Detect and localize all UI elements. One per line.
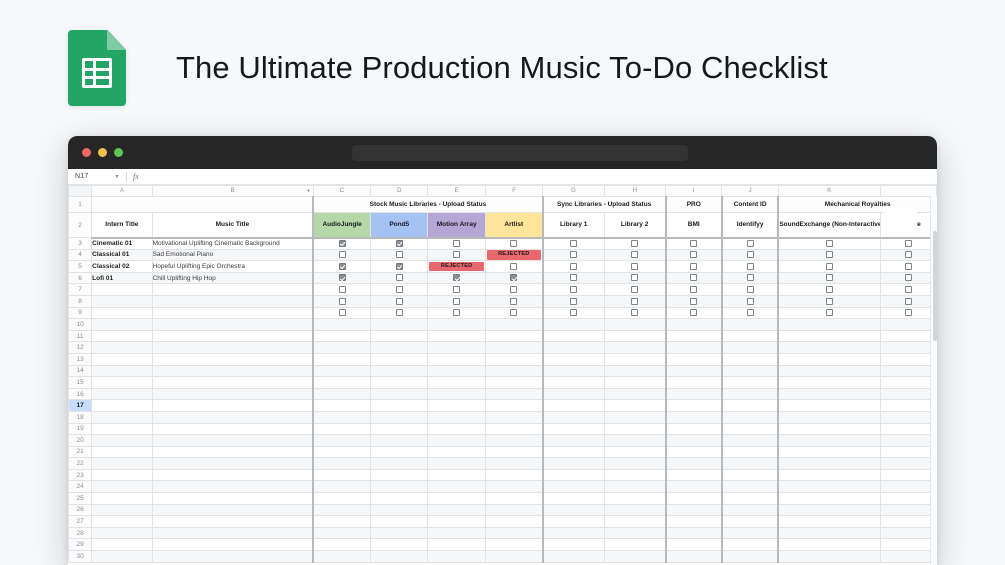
cell-empty[interactable] (722, 493, 778, 505)
cell-empty[interactable] (371, 539, 428, 551)
cell-empty[interactable] (604, 353, 665, 365)
cell-empty[interactable] (92, 516, 152, 528)
cell-empty[interactable] (92, 319, 152, 331)
cell-empty[interactable] (543, 469, 604, 481)
cell-empty[interactable] (92, 493, 152, 505)
minimize-window-button[interactable] (98, 148, 107, 157)
cell-empty[interactable] (371, 365, 428, 377)
checkbox[interactable] (339, 286, 346, 293)
cell-intern-title[interactable]: Lofi 01 (92, 272, 152, 284)
cell-empty[interactable] (666, 539, 722, 551)
cell-empty[interactable] (880, 446, 936, 458)
cell-empty[interactable] (313, 493, 370, 505)
checkbox[interactable] (905, 263, 912, 270)
cell-status[interactable] (371, 238, 428, 250)
cell-empty[interactable] (485, 527, 542, 539)
cell-empty[interactable] (485, 504, 542, 516)
cell-empty[interactable] (666, 481, 722, 493)
cell-empty[interactable] (666, 551, 722, 563)
cell-intern-title[interactable] (92, 284, 152, 296)
checkbox[interactable] (396, 263, 403, 270)
cell-empty[interactable] (428, 365, 485, 377)
cell-empty[interactable] (722, 539, 778, 551)
row-number[interactable]: 17 (69, 400, 92, 412)
cell-empty[interactable] (778, 493, 880, 505)
cell-empty[interactable] (371, 377, 428, 389)
cell-status[interactable] (428, 249, 485, 261)
checkbox[interactable] (747, 263, 754, 270)
checkbox[interactable] (826, 298, 833, 305)
cell-status[interactable] (371, 261, 428, 273)
cell-empty[interactable] (152, 423, 313, 435)
checkbox[interactable] (631, 274, 638, 281)
cell-status[interactable] (778, 272, 880, 284)
cell-status[interactable] (722, 249, 778, 261)
spreadsheet-grid[interactable]: AB▾CDEFGHIJK1Stock Music Libraries - Upl… (68, 185, 937, 565)
checkbox[interactable] (453, 309, 460, 316)
cell-empty[interactable] (485, 539, 542, 551)
cell-status[interactable] (604, 238, 665, 250)
checkbox[interactable] (631, 286, 638, 293)
cell-empty[interactable] (880, 342, 936, 354)
cell-status[interactable] (722, 238, 778, 250)
table-row[interactable]: 14 (69, 365, 937, 377)
cell-status[interactable] (485, 261, 542, 273)
cell-empty[interactable] (371, 504, 428, 516)
cell-empty[interactable] (543, 493, 604, 505)
checkbox[interactable] (570, 286, 577, 293)
cell-empty[interactable] (485, 493, 542, 505)
checkbox[interactable] (747, 298, 754, 305)
cell-empty[interactable] (92, 527, 152, 539)
cell-empty[interactable] (92, 446, 152, 458)
cell-empty[interactable] (722, 365, 778, 377)
cell-empty[interactable] (428, 388, 485, 400)
row-number[interactable]: 18 (69, 411, 92, 423)
cell-empty[interactable] (313, 377, 370, 389)
table-row[interactable]: 12 (69, 342, 937, 354)
cell-empty[interactable] (371, 469, 428, 481)
cell-empty[interactable] (152, 377, 313, 389)
cell-empty[interactable] (778, 516, 880, 528)
cell-intern-title[interactable] (92, 295, 152, 307)
row-number[interactable]: 22 (69, 458, 92, 470)
cell-music-title[interactable]: Hopeful Uplifting Epic Orchestra (152, 261, 313, 273)
table-row[interactable]: 13 (69, 353, 937, 365)
cell-empty[interactable] (428, 527, 485, 539)
checkbox[interactable] (631, 263, 638, 270)
cell-empty[interactable] (543, 527, 604, 539)
table-row[interactable]: 21 (69, 446, 937, 458)
row-number[interactable]: 1 (69, 197, 92, 213)
checkbox[interactable] (510, 240, 517, 247)
cell-empty[interactable] (152, 527, 313, 539)
cell-empty[interactable] (543, 330, 604, 342)
cell-empty[interactable] (428, 400, 485, 412)
cell-empty[interactable] (543, 458, 604, 470)
row-number[interactable]: 29 (69, 539, 92, 551)
table-row[interactable]: 24 (69, 481, 937, 493)
cell-intern-title[interactable]: Cinematic 01 (92, 238, 152, 250)
cell-status[interactable] (880, 249, 936, 261)
cell-empty[interactable] (604, 446, 665, 458)
cell-empty[interactable] (604, 481, 665, 493)
cell-empty[interactable] (152, 493, 313, 505)
cell-empty[interactable] (604, 504, 665, 516)
cell-status[interactable] (778, 284, 880, 296)
cell-status[interactable] (543, 261, 604, 273)
cell-empty[interactable] (604, 435, 665, 447)
cell-empty[interactable] (778, 330, 880, 342)
cell-empty[interactable] (722, 551, 778, 563)
row-number[interactable]: 11 (69, 330, 92, 342)
table-row[interactable]: 25 (69, 493, 937, 505)
checkbox[interactable] (570, 263, 577, 270)
cell-empty[interactable] (313, 330, 370, 342)
cell-empty[interactable] (666, 330, 722, 342)
cell-empty[interactable] (543, 377, 604, 389)
cell-empty[interactable] (880, 504, 936, 516)
cell-empty[interactable] (485, 458, 542, 470)
cell-empty[interactable] (778, 458, 880, 470)
cell-empty[interactable] (880, 411, 936, 423)
cell-empty[interactable] (722, 400, 778, 412)
cell-empty[interactable] (722, 377, 778, 389)
table-row[interactable]: 18 (69, 411, 937, 423)
table-row[interactable]: 4Classical 01Sad Emotional PianoREJECTED (69, 249, 937, 261)
checkbox[interactable] (510, 298, 517, 305)
checkbox[interactable] (747, 274, 754, 281)
checkbox[interactable] (453, 274, 460, 281)
cell-empty[interactable] (152, 388, 313, 400)
cell-empty[interactable] (313, 423, 370, 435)
row-number[interactable]: 4 (69, 249, 92, 261)
cell-status[interactable] (543, 307, 604, 319)
cell-empty[interactable] (543, 481, 604, 493)
row-number[interactable]: 30 (69, 551, 92, 563)
row-number[interactable]: 3 (69, 238, 92, 250)
checkbox[interactable] (570, 251, 577, 258)
checkbox[interactable] (690, 309, 697, 316)
checkbox[interactable] (510, 309, 517, 316)
column-header-e[interactable]: E (428, 186, 485, 197)
checkbox[interactable] (570, 309, 577, 316)
cell-empty[interactable] (92, 377, 152, 389)
table-row[interactable]: 11 (69, 330, 937, 342)
cell-empty[interactable] (313, 435, 370, 447)
cell-empty[interactable] (371, 423, 428, 435)
cell-status[interactable] (313, 261, 370, 273)
table-row[interactable]: 28 (69, 527, 937, 539)
table-row[interactable]: 8 (69, 295, 937, 307)
cell-empty[interactable] (880, 423, 936, 435)
row-number[interactable]: 12 (69, 342, 92, 354)
cell-empty[interactable] (371, 342, 428, 354)
checkbox[interactable] (339, 240, 346, 247)
cell-empty[interactable] (880, 469, 936, 481)
cell-empty[interactable] (778, 551, 880, 563)
cell-empty[interactable] (722, 411, 778, 423)
row-number[interactable]: 15 (69, 377, 92, 389)
cell-status[interactable]: REJECTED (485, 249, 542, 261)
cell-music-title[interactable]: Chill Uplifting Hip Hop (152, 272, 313, 284)
cell-empty[interactable] (485, 481, 542, 493)
cell-empty[interactable] (428, 551, 485, 563)
cell-empty[interactable] (604, 342, 665, 354)
cell-status[interactable] (371, 249, 428, 261)
cell-empty[interactable] (428, 516, 485, 528)
cell-empty[interactable] (313, 504, 370, 516)
cell-empty[interactable] (543, 446, 604, 458)
cell-status[interactable] (428, 238, 485, 250)
cell-empty[interactable] (604, 493, 665, 505)
name-box[interactable]: N17 (68, 173, 110, 180)
cell-status[interactable] (880, 238, 936, 250)
cell-empty[interactable] (880, 493, 936, 505)
cell-empty[interactable] (485, 411, 542, 423)
checkbox[interactable] (905, 240, 912, 247)
table-row[interactable]: 17 (69, 400, 937, 412)
cell-empty[interactable] (313, 539, 370, 551)
cell-status[interactable] (778, 295, 880, 307)
column-header-j[interactable]: J (722, 186, 778, 197)
close-window-button[interactable] (82, 148, 91, 157)
cell-empty[interactable] (485, 423, 542, 435)
cell-empty[interactable] (778, 400, 880, 412)
table-row[interactable]: 3Cinematic 01Motivational Uplifting Cine… (69, 238, 937, 250)
column-header-a[interactable]: A (92, 186, 152, 197)
cell-status[interactable] (666, 295, 722, 307)
cell-empty[interactable] (604, 400, 665, 412)
cell-empty[interactable] (543, 551, 604, 563)
cell-empty[interactable] (722, 319, 778, 331)
row-number[interactable]: 14 (69, 365, 92, 377)
cell-empty[interactable] (92, 423, 152, 435)
cell-status[interactable] (428, 307, 485, 319)
checkbox[interactable] (453, 298, 460, 305)
column-header-i[interactable]: I (666, 186, 722, 197)
cell-empty[interactable] (778, 469, 880, 481)
column-header-b[interactable]: B▾ (152, 186, 313, 197)
row-number[interactable]: 20 (69, 435, 92, 447)
cell-empty[interactable] (778, 353, 880, 365)
checkbox[interactable] (339, 309, 346, 316)
cell-status[interactable] (880, 261, 936, 273)
row-number[interactable]: 9 (69, 307, 92, 319)
column-header-g[interactable]: G (543, 186, 604, 197)
cell-status[interactable] (880, 295, 936, 307)
cell-empty[interactable] (428, 481, 485, 493)
cell-empty[interactable] (152, 504, 313, 516)
cell-empty[interactable] (428, 353, 485, 365)
cell-empty[interactable] (880, 388, 936, 400)
cell-empty[interactable] (722, 388, 778, 400)
cell-status[interactable] (313, 272, 370, 284)
cell-empty[interactable] (428, 319, 485, 331)
cell-empty[interactable] (152, 330, 313, 342)
cell-status[interactable] (604, 249, 665, 261)
cell-status[interactable] (666, 307, 722, 319)
cell-empty[interactable] (666, 504, 722, 516)
cell-empty[interactable] (371, 446, 428, 458)
cell-empty[interactable] (880, 400, 936, 412)
cell-empty[interactable] (666, 319, 722, 331)
cell-empty[interactable] (428, 539, 485, 551)
cell-empty[interactable] (485, 446, 542, 458)
cell-status[interactable] (313, 238, 370, 250)
cell-status[interactable]: REJECTED (428, 261, 485, 273)
cell-status[interactable] (604, 307, 665, 319)
checkbox[interactable] (453, 286, 460, 293)
cell-empty[interactable] (543, 342, 604, 354)
cell-empty[interactable] (92, 365, 152, 377)
row-number[interactable]: 8 (69, 295, 92, 307)
cell-empty[interactable] (543, 353, 604, 365)
checkbox[interactable] (396, 309, 403, 316)
cell-empty[interactable] (313, 400, 370, 412)
cell-empty[interactable] (722, 446, 778, 458)
table-row[interactable]: 9 (69, 307, 937, 319)
checkbox[interactable] (396, 274, 403, 281)
cell-empty[interactable] (485, 319, 542, 331)
cell-empty[interactable] (604, 539, 665, 551)
cell-empty[interactable] (666, 353, 722, 365)
cell-empty[interactable] (666, 435, 722, 447)
checkbox[interactable] (690, 263, 697, 270)
cell-intern-title[interactable]: Classical 02 (92, 261, 152, 273)
cell-empty[interactable] (485, 353, 542, 365)
cell-status[interactable] (428, 284, 485, 296)
column-header-k[interactable]: K (778, 186, 880, 197)
cell-empty[interactable] (778, 411, 880, 423)
cell-empty[interactable] (92, 342, 152, 354)
checkbox[interactable] (826, 251, 833, 258)
cell-status[interactable] (485, 307, 542, 319)
cell-empty[interactable] (543, 516, 604, 528)
row-number[interactable]: 25 (69, 493, 92, 505)
cell-empty[interactable] (428, 458, 485, 470)
cell-empty[interactable] (666, 400, 722, 412)
cell-empty[interactable] (428, 469, 485, 481)
cell-empty[interactable] (778, 342, 880, 354)
checkbox[interactable] (631, 240, 638, 247)
cell-empty[interactable] (666, 388, 722, 400)
cell-empty[interactable] (371, 411, 428, 423)
cell-empty[interactable] (428, 330, 485, 342)
checkbox[interactable] (510, 263, 517, 270)
cell-music-title[interactable]: Sad Emotional Piano (152, 249, 313, 261)
row-number[interactable]: 13 (69, 353, 92, 365)
cell-empty[interactable] (152, 319, 313, 331)
cell-empty[interactable] (92, 481, 152, 493)
cell-status[interactable] (666, 272, 722, 284)
cell-empty[interactable] (371, 330, 428, 342)
cell-empty[interactable] (778, 377, 880, 389)
row-number[interactable]: 23 (69, 469, 92, 481)
cell-empty[interactable] (604, 388, 665, 400)
cell-empty[interactable] (543, 423, 604, 435)
cell-empty[interactable] (722, 342, 778, 354)
cell-empty[interactable] (428, 411, 485, 423)
checkbox[interactable] (570, 274, 577, 281)
cell-status[interactable] (778, 249, 880, 261)
cell-empty[interactable] (92, 353, 152, 365)
cell-empty[interactable] (428, 342, 485, 354)
cell-empty[interactable] (371, 319, 428, 331)
cell-empty[interactable] (666, 469, 722, 481)
cell-empty[interactable] (666, 446, 722, 458)
checkbox[interactable] (905, 298, 912, 305)
checkbox[interactable] (631, 309, 638, 316)
column-header-c[interactable]: C (313, 186, 370, 197)
cell-empty[interactable] (880, 458, 936, 470)
checkbox[interactable] (396, 240, 403, 247)
cell-status[interactable] (313, 284, 370, 296)
cell-status[interactable] (880, 284, 936, 296)
cell-empty[interactable] (371, 516, 428, 528)
checkbox[interactable] (510, 286, 517, 293)
checkbox[interactable] (905, 286, 912, 293)
cell-status[interactable] (485, 284, 542, 296)
checkbox[interactable] (396, 286, 403, 293)
cell-empty[interactable] (543, 319, 604, 331)
cell-empty[interactable] (778, 446, 880, 458)
cell-empty[interactable] (485, 516, 542, 528)
cell-status[interactable] (543, 249, 604, 261)
cell-empty[interactable] (152, 516, 313, 528)
cell-empty[interactable] (371, 353, 428, 365)
cell-empty[interactable] (880, 365, 936, 377)
cell-empty[interactable] (722, 469, 778, 481)
cell-status[interactable] (778, 307, 880, 319)
cell-empty[interactable] (666, 342, 722, 354)
cell-empty[interactable] (485, 435, 542, 447)
cell-empty[interactable] (880, 330, 936, 342)
cell-empty[interactable] (371, 435, 428, 447)
cell-music-title[interactable]: Motivational Uplifting Cinematic Backgro… (152, 238, 313, 250)
cell-status[interactable] (880, 272, 936, 284)
cell-empty[interactable] (880, 527, 936, 539)
cell-empty[interactable] (92, 551, 152, 563)
cell-status[interactable] (880, 307, 936, 319)
cell-empty[interactable] (722, 481, 778, 493)
cell-empty[interactable] (92, 388, 152, 400)
cell-empty[interactable] (428, 435, 485, 447)
row-number[interactable]: 19 (69, 423, 92, 435)
cell-empty[interactable] (428, 504, 485, 516)
checkbox[interactable] (826, 263, 833, 270)
cell-empty[interactable] (92, 400, 152, 412)
row-number[interactable]: 5 (69, 261, 92, 273)
cell-empty[interactable] (543, 539, 604, 551)
filter-dropdown-icon[interactable]: ▾ (307, 188, 310, 194)
cell-status[interactable] (485, 295, 542, 307)
checkbox[interactable] (339, 251, 346, 258)
cell-empty[interactable] (152, 342, 313, 354)
cell-status[interactable] (604, 272, 665, 284)
scrollbar-thumb[interactable] (933, 231, 937, 341)
cell-empty[interactable] (543, 365, 604, 377)
table-row[interactable]: 7 (69, 284, 937, 296)
checkbox[interactable] (453, 240, 460, 247)
cell-empty[interactable] (313, 481, 370, 493)
cell-music-title[interactable] (152, 307, 313, 319)
cell-empty[interactable] (722, 423, 778, 435)
cell-empty[interactable] (722, 435, 778, 447)
cell-empty[interactable] (722, 527, 778, 539)
cell-empty[interactable] (880, 481, 936, 493)
url-bar[interactable] (352, 145, 688, 161)
